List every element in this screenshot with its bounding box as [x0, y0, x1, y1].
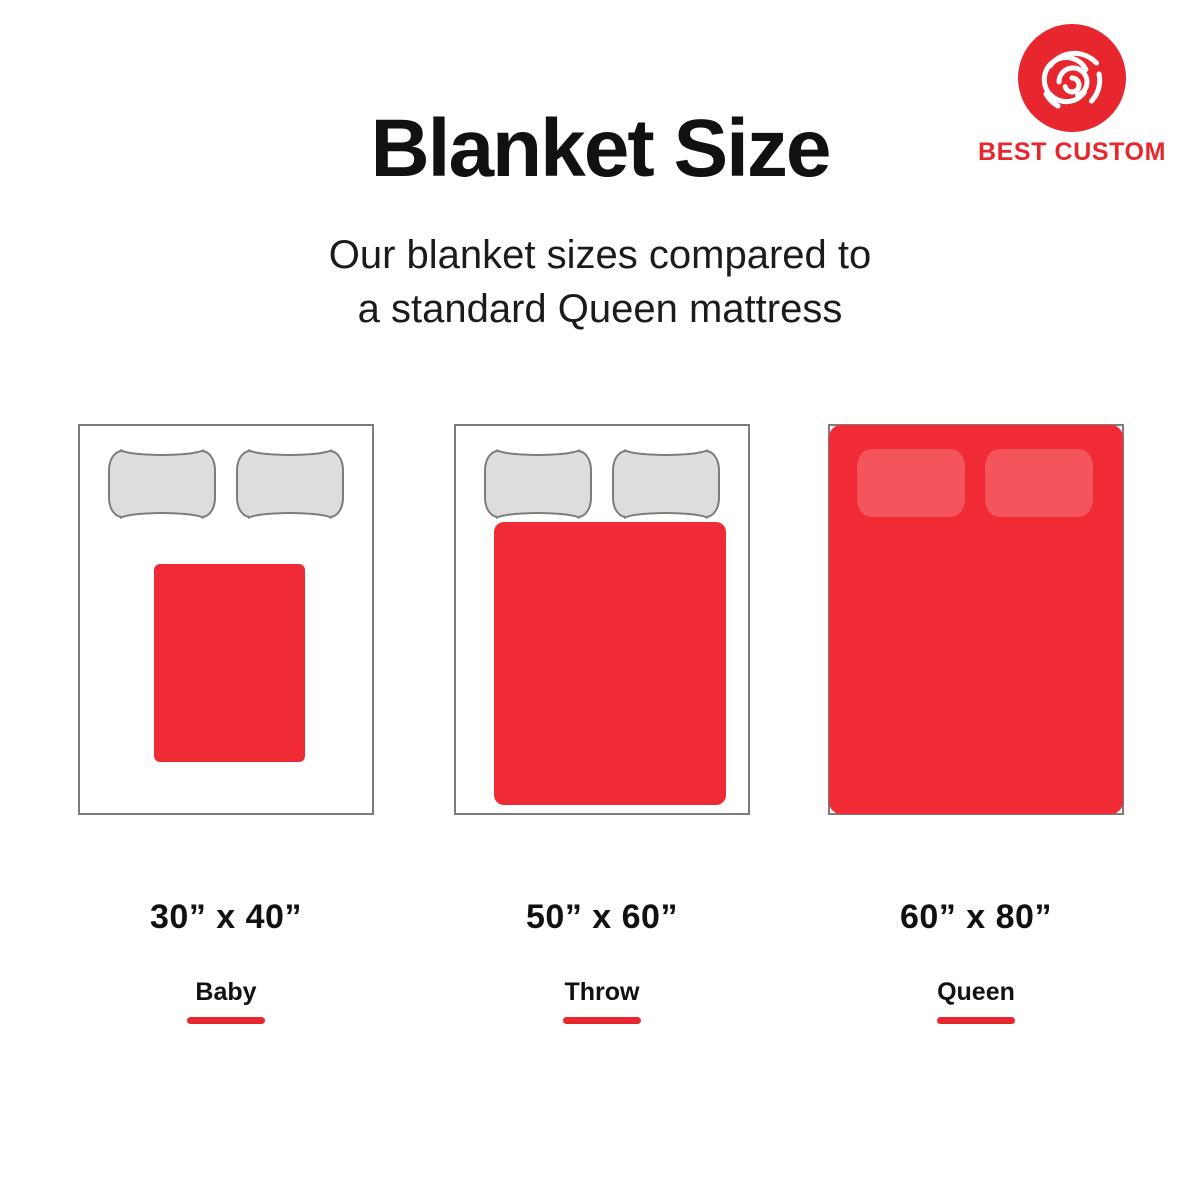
caption-throw: 50” x 60” Throw: [454, 900, 750, 1024]
blanket-queen: [829, 425, 1123, 814]
page-title: Blanket Size: [0, 108, 1200, 190]
dimensions-label: 60” x 80”: [828, 900, 1124, 934]
bed-diagram-baby: [78, 424, 374, 815]
pillow-right: [985, 449, 1093, 517]
bed-diagram-queen: [828, 424, 1124, 815]
caption-queen: 60” x 80” Queen: [828, 900, 1124, 1024]
size-name-label: Queen: [828, 980, 1124, 1005]
page-subtitle: Our blanket sizes compared to a standard…: [0, 228, 1200, 336]
pillow-left: [108, 450, 216, 518]
size-name-label: Throw: [454, 980, 750, 1005]
pillow-right: [236, 450, 344, 518]
bed-diagram-throw: [454, 424, 750, 815]
pillow-left: [484, 450, 592, 518]
underline-rule: [937, 1017, 1015, 1024]
subtitle-line-1: Our blanket sizes compared to: [0, 228, 1200, 282]
blanket-baby: [154, 564, 305, 762]
pillow-right: [612, 450, 720, 518]
blanket-throw: [494, 522, 726, 805]
size-name-label: Baby: [78, 980, 374, 1005]
dimensions-label: 30” x 40”: [78, 900, 374, 934]
subtitle-line-2: a standard Queen mattress: [0, 282, 1200, 336]
underline-rule: [187, 1017, 265, 1024]
dimensions-label: 50” x 60”: [454, 900, 750, 934]
pillow-left: [857, 449, 965, 517]
infographic-canvas: BEST CUSTOM Blanket Size Our blanket siz…: [0, 0, 1200, 1200]
underline-rule: [563, 1017, 641, 1024]
caption-baby: 30” x 40” Baby: [78, 900, 374, 1024]
